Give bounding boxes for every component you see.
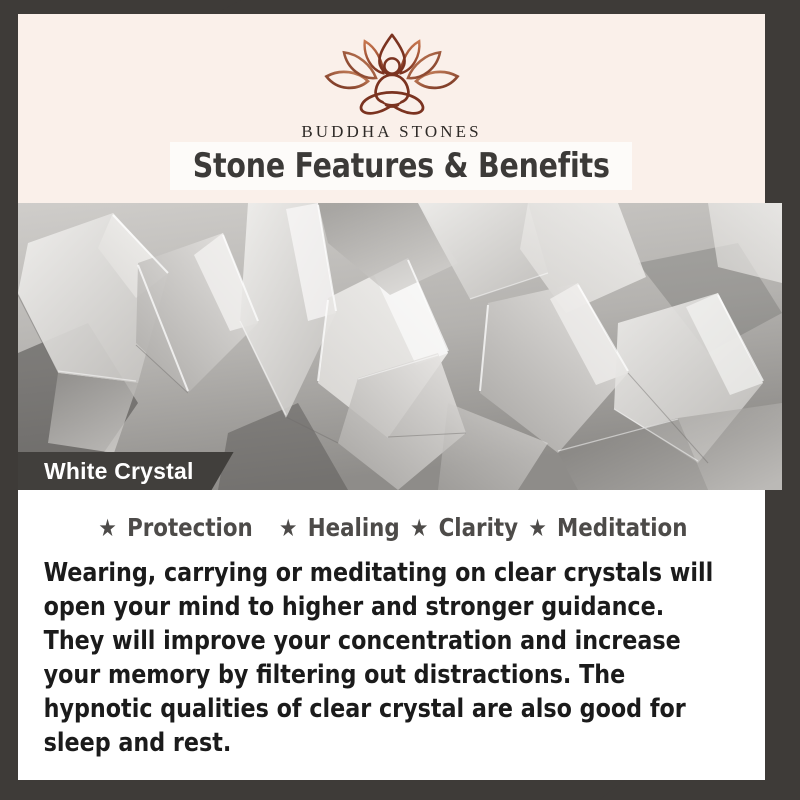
stone-benefits-poster: BUDDHA STONES	[0, 0, 800, 800]
stone-name-text: White Crystal	[44, 458, 194, 485]
brand-name: BUDDHA STONES	[301, 122, 481, 142]
benefit-item-meditation: Meditation	[557, 513, 687, 542]
benefit-item-protection: Protection	[127, 513, 253, 542]
benefit-item-healing: Healing	[308, 513, 400, 542]
frame-bar-bottom	[0, 780, 625, 800]
content-area: ★ Protection ★ Healing ★ Clarity ★ Medit…	[18, 490, 765, 780]
frame-bar-left	[0, 0, 18, 800]
stone-name-label: White Crystal	[18, 452, 234, 490]
description-paragraph: Wearing, carrying or meditating on clear…	[32, 556, 729, 760]
star-icon: ★	[96, 514, 120, 542]
crystal-photo-canvas	[18, 203, 782, 490]
star-icon: ★	[525, 514, 549, 542]
star-icon: ★	[276, 514, 300, 542]
page-title-banner: Stone Features & Benefits	[170, 142, 632, 190]
benefits-list: ★ Protection ★ Healing ★ Clarity ★ Medit…	[50, 513, 733, 542]
lotus-meditation-figure-icon	[312, 30, 472, 118]
star-icon: ★	[407, 514, 431, 542]
brand-header: BUDDHA STONES	[18, 14, 765, 144]
crystal-photo	[18, 203, 782, 490]
page-title: Stone Features & Benefits	[192, 146, 609, 186]
benefit-item-clarity: Clarity	[439, 513, 518, 542]
frame-bar-top	[215, 0, 800, 14]
